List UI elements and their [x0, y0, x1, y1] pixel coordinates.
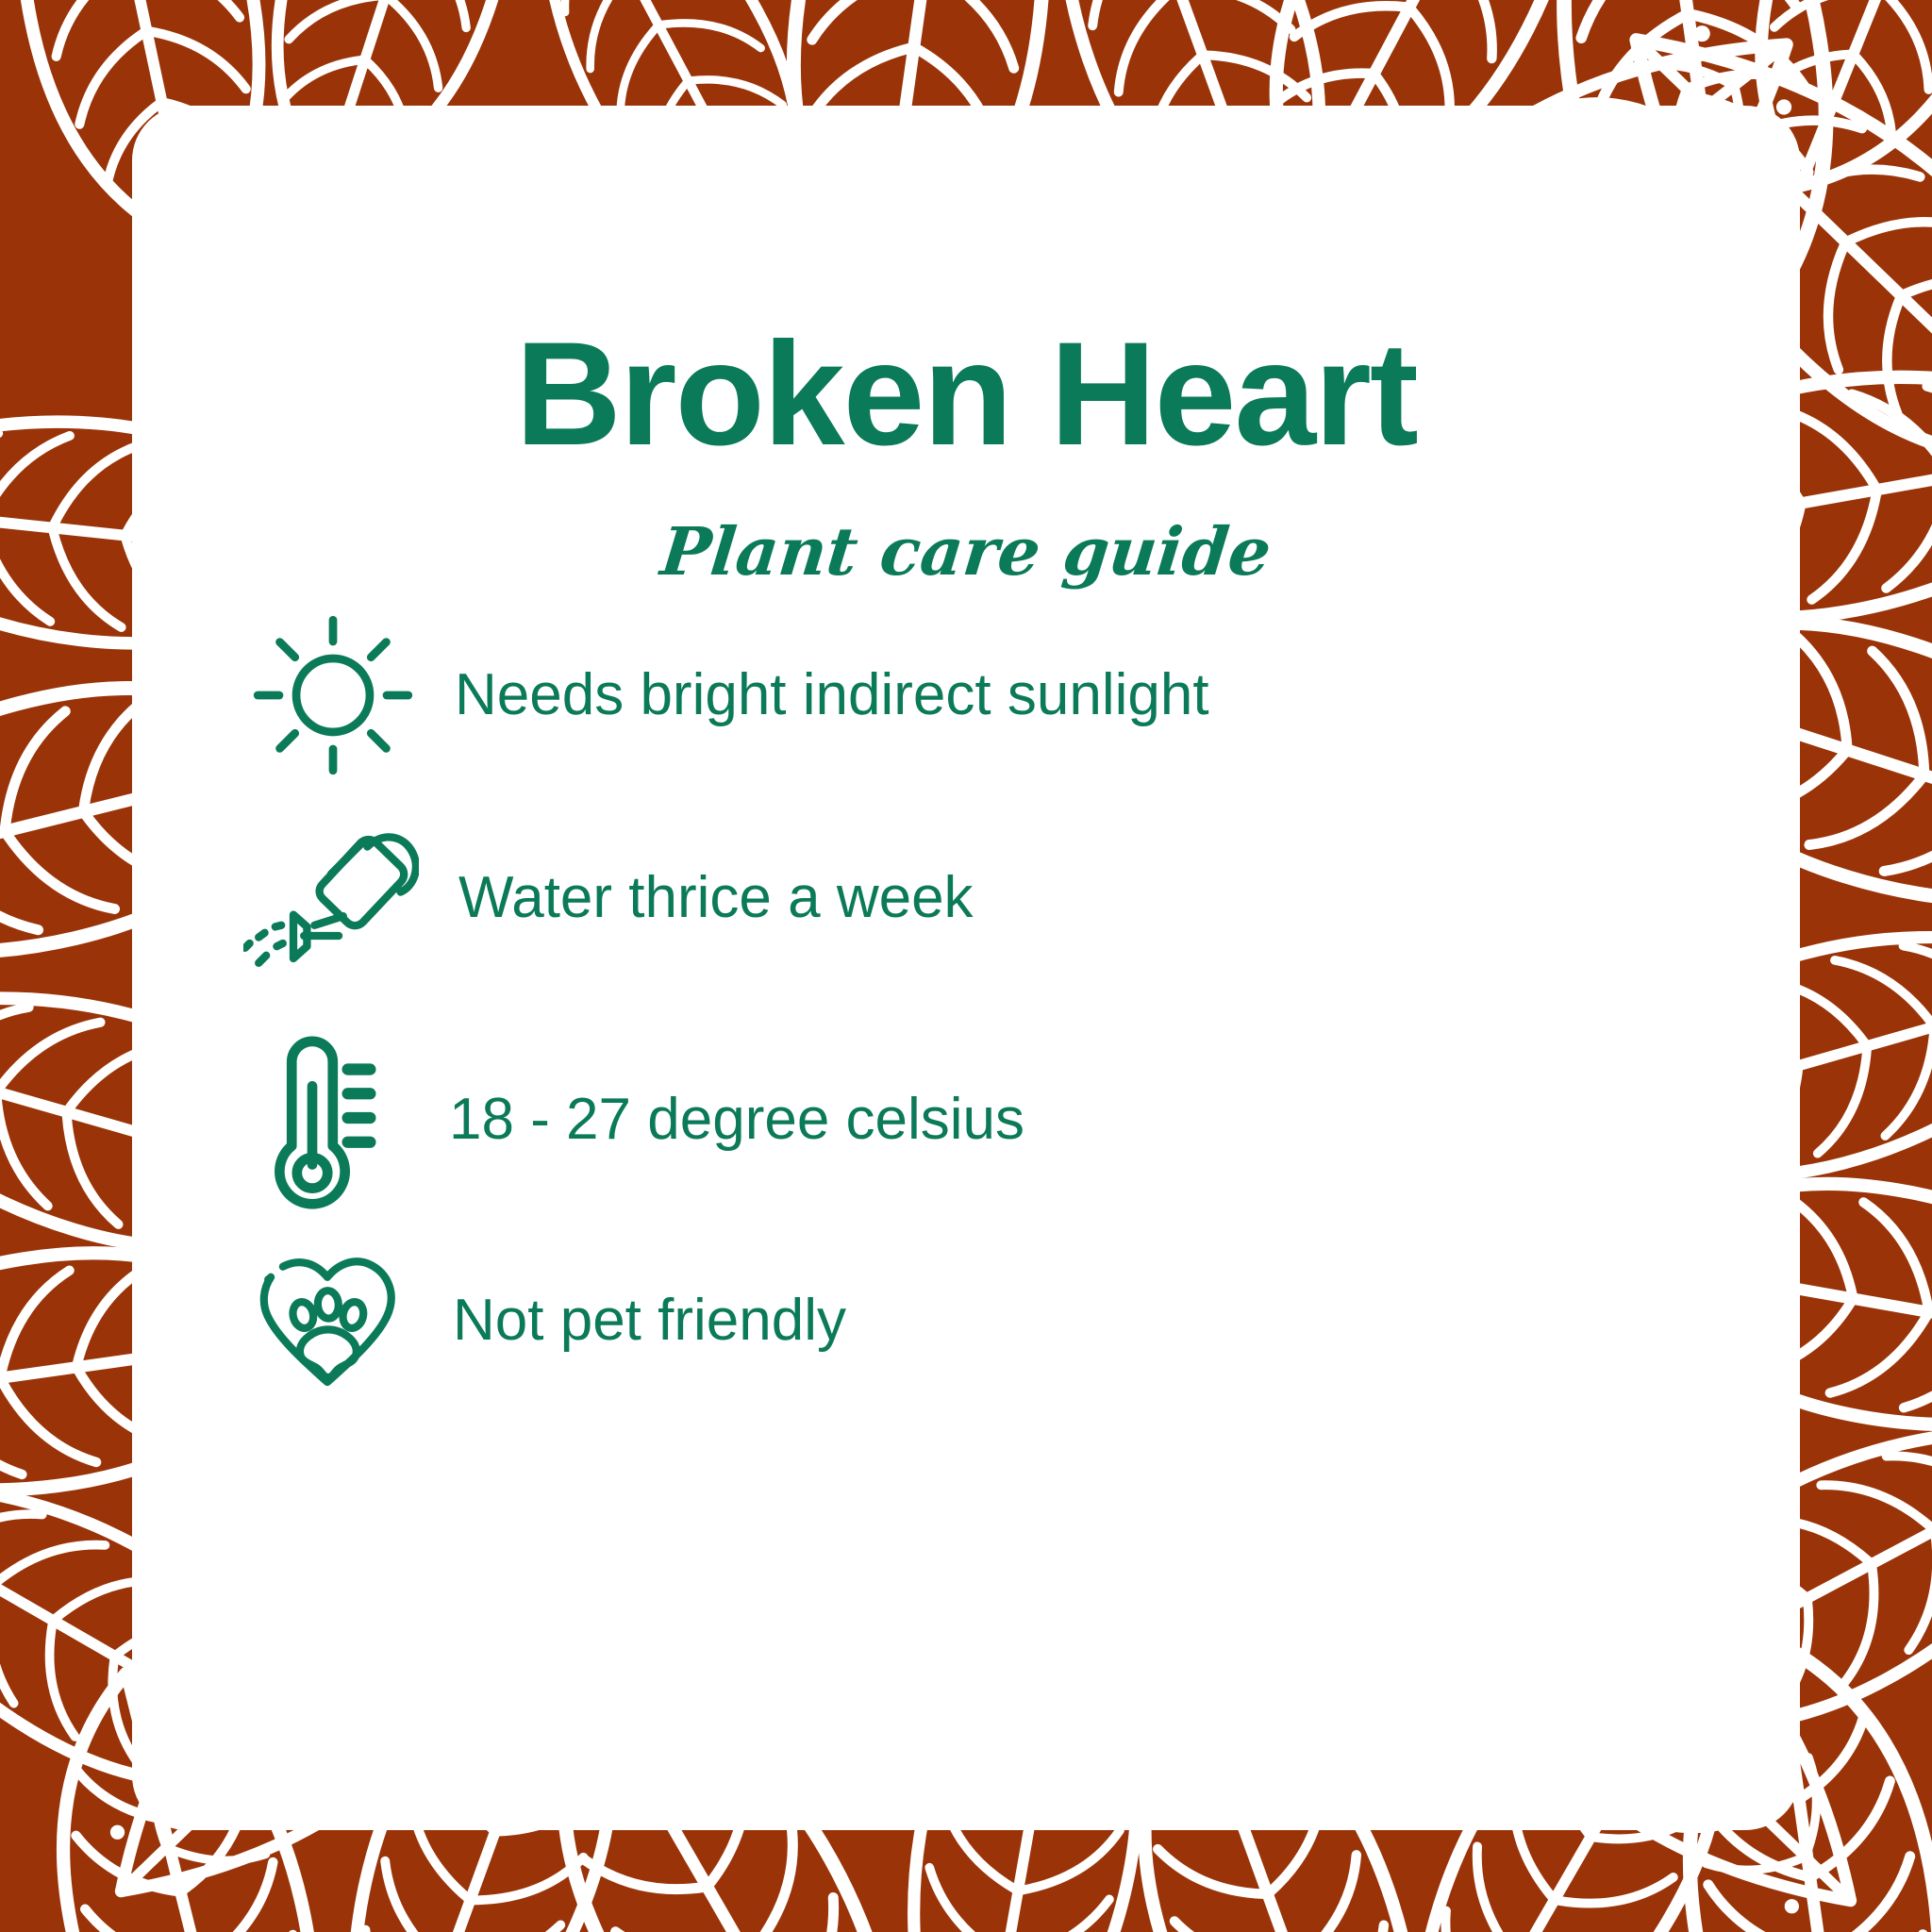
care-item-label: Not pet friendly [453, 1289, 846, 1353]
page-subtitle: Plant care guide [132, 519, 1800, 585]
care-item-pet-friendly: Not pet friendly [243, 1242, 846, 1399]
sun-icon [243, 606, 423, 785]
care-item-label: Water thrice a week [458, 866, 974, 930]
care-item-temperature: 18 - 27 degree celsius [243, 1030, 1024, 1209]
care-item-label: 18 - 27 degree celsius [449, 1088, 1024, 1152]
care-item-water: Water thrice a week [243, 823, 974, 974]
care-card: Broken Heart Plant care guide [132, 106, 1800, 1830]
care-item-sunlight: Needs bright indirect sunlight [243, 606, 1209, 785]
care-item-label: Needs bright indirect sunlight [455, 663, 1209, 727]
plant-care-poster: Broken Heart Plant care guide [0, 0, 1932, 1932]
heart-paw-icon [243, 1242, 411, 1399]
watering-can-icon [243, 823, 419, 974]
thermometer-icon [243, 1030, 385, 1209]
page-title: Broken Heart [132, 321, 1800, 468]
